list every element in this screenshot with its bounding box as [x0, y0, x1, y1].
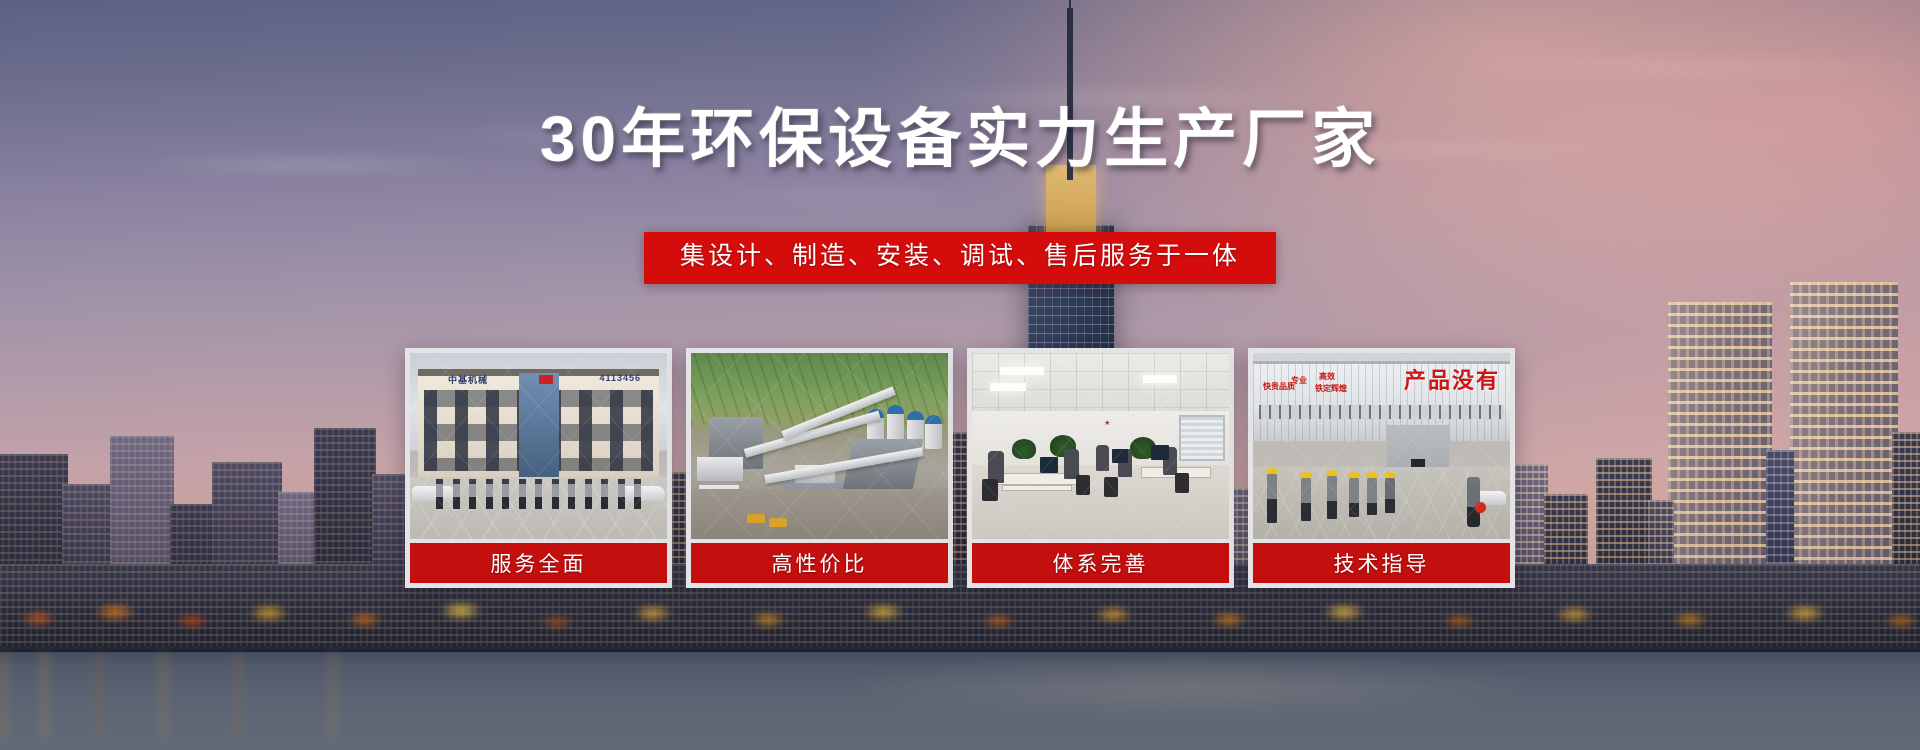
card-label: 技术指导 — [1253, 543, 1510, 583]
card-label: 体系完善 — [972, 543, 1229, 583]
card-label: 高性价比 — [691, 543, 948, 583]
subtitle-text: 集设计、制造、安装、调试、售后服务于一体 — [680, 243, 1240, 271]
card-label: 服务全面 — [410, 543, 667, 583]
hero-banner: WESTIN 金鹰广场 30年环保设备实力生产厂家 集设计、制造、安装、调试、售… — [0, 0, 1920, 750]
feature-card[interactable]: 高性价比 — [686, 348, 953, 588]
card-label-text: 服务全面 — [491, 548, 587, 578]
watermark-overlay — [1253, 353, 1510, 539]
card-label-text: 技术指导 — [1334, 548, 1430, 578]
watermark-overlay — [972, 353, 1229, 539]
feature-card[interactable]: ★ — [967, 348, 1234, 588]
feature-card[interactable]: 产品没有 快贵品质 专业 高效 铁定辉煌 — [1248, 348, 1515, 588]
subtitle-banner: 集设计、制造、安装、调试、售后服务于一体 — [644, 232, 1276, 284]
watermark-overlay — [691, 353, 948, 539]
card-thumbnail-office-building: 中基机械 4113456 — [410, 353, 667, 539]
watermark-overlay — [410, 353, 667, 539]
feature-card-list: 中基机械 4113456 服务全面 — [405, 348, 1515, 588]
card-thumbnail-workshop-training: 产品没有 快贵品质 专业 高效 铁定辉煌 — [1253, 353, 1510, 539]
feature-card[interactable]: 中基机械 4113456 服务全面 — [405, 348, 672, 588]
card-thumbnail-aerial-plant — [691, 353, 948, 539]
card-label-text: 体系完善 — [1053, 548, 1149, 578]
page-title: 30年环保设备实力生产厂家 — [0, 107, 1920, 171]
card-label-text: 高性价比 — [772, 548, 868, 578]
card-thumbnail-office-interior: ★ — [972, 353, 1229, 539]
